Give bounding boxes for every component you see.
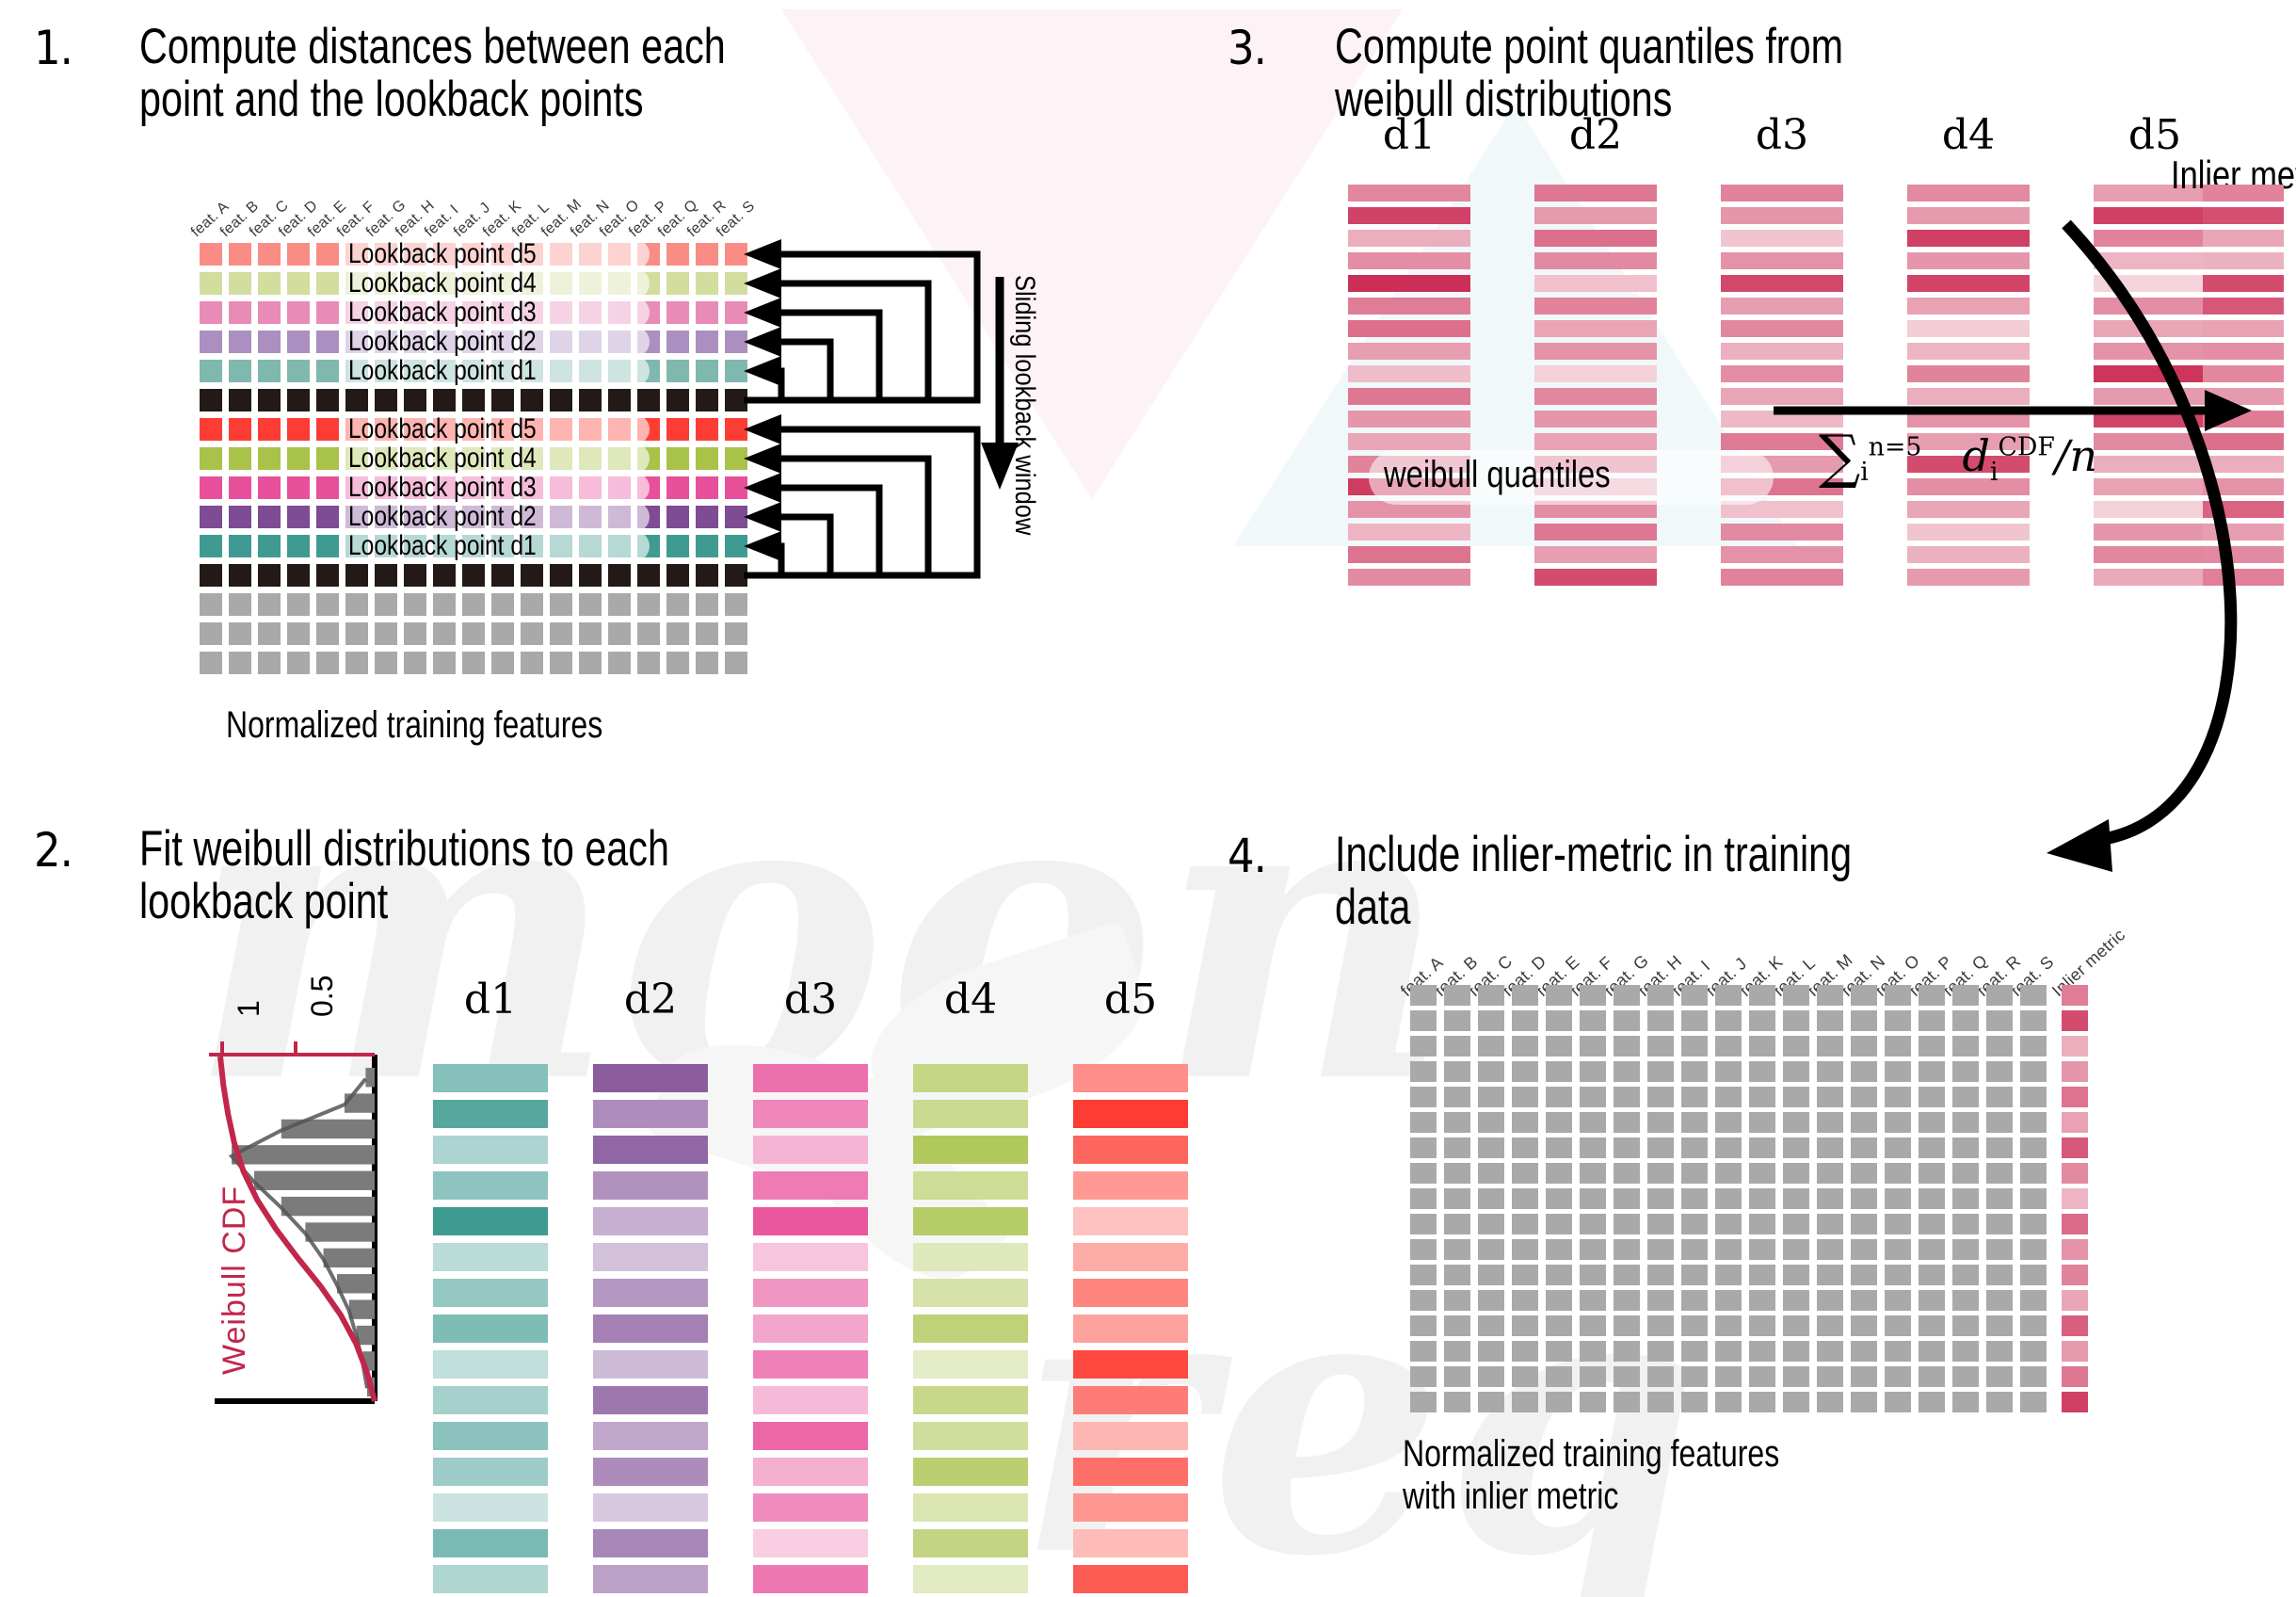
grid-cell (2020, 1163, 2047, 1184)
grid-cell (1817, 1392, 1843, 1412)
grid-cell (666, 360, 689, 382)
grid-cell (608, 593, 631, 616)
distance-bar (433, 1279, 548, 1307)
grid-cell (1885, 1036, 1911, 1057)
grid-cell (1410, 1392, 1437, 1412)
grid-cell (1783, 1112, 1809, 1133)
grid-cell (1952, 985, 1979, 1006)
grid-cell (1885, 1392, 1911, 1412)
grid-cell (1986, 1239, 2013, 1260)
inlier-metric-cell (2062, 1366, 2088, 1387)
grid-cell (1444, 1315, 1470, 1336)
distance-bar (1073, 1064, 1188, 1092)
grid-cell (345, 652, 368, 674)
grid-cell (521, 622, 543, 645)
grid-cell (1546, 1341, 1572, 1362)
grid-cell (1919, 1188, 1945, 1209)
grid-cell (1647, 1163, 1674, 1184)
grid-cell (579, 652, 602, 674)
lookback-row-label: Lookback point d4 (348, 444, 537, 474)
grid-cell (1512, 1366, 1538, 1387)
grid-cell (1512, 1392, 1538, 1412)
distance-bar (433, 1458, 548, 1486)
grid-cell (1512, 1137, 1538, 1158)
grid-cell (637, 652, 660, 674)
distance-bar (753, 1171, 868, 1200)
quantile-bar (1534, 230, 1657, 247)
quantile-bar (1534, 365, 1657, 382)
grid-cell (1546, 1214, 1572, 1234)
grid-cell (696, 272, 718, 295)
distance-bar (433, 1350, 548, 1379)
grid-cell (696, 447, 718, 470)
grid-cell (345, 593, 368, 616)
panel-2: 2. Fit weibull distributions to each loo… (0, 800, 1148, 1597)
grid-cell (200, 418, 222, 441)
grid-cell (1783, 1061, 1809, 1082)
panel-2-column-label: d4 (913, 976, 1028, 1024)
grid-cell (229, 301, 251, 324)
grid-cell (1986, 1315, 2013, 1336)
grid-cell (1952, 1087, 1979, 1107)
grid-cell (1614, 1188, 1640, 1209)
grid-cell (1546, 1315, 1572, 1336)
grid-cell (666, 331, 689, 353)
grid-cell (287, 272, 310, 295)
grid-row (200, 593, 754, 616)
grid-cell (1681, 1036, 1708, 1057)
grid-cell (258, 418, 281, 441)
grid-cell (521, 593, 543, 616)
inlier-metric-cell (2062, 1392, 2088, 1412)
lookback-bracket-arrow (744, 327, 830, 400)
grid-row (1410, 1061, 2088, 1082)
distance-bar (433, 1243, 548, 1271)
grid-cell (258, 564, 281, 587)
grid-row (1410, 1112, 2088, 1133)
grid-cell (1885, 1366, 1911, 1387)
grid-cell (1614, 1061, 1640, 1082)
grid-cell (1512, 1214, 1538, 1234)
inlier-metric-cell (2062, 1290, 2088, 1311)
quantile-bar (1348, 411, 1470, 427)
grid-cell (229, 360, 251, 382)
grid-cell (316, 564, 339, 587)
grid-cell (1851, 1036, 1877, 1057)
grid-cell (696, 331, 718, 353)
grid-cell (1580, 1112, 1606, 1133)
cdf-histogram-bar (281, 1197, 375, 1216)
grid-cell (1444, 1112, 1470, 1133)
distance-bar (913, 1315, 1028, 1343)
grid-cell (550, 622, 572, 645)
grid-cell (2020, 985, 2047, 1006)
grid-cell (1851, 1137, 1877, 1158)
grid-cell (1681, 1290, 1708, 1311)
quantile-bar (1534, 207, 1657, 224)
grid-cell (1986, 1061, 2013, 1082)
grid-cell (637, 389, 660, 411)
grid-cell (1783, 1315, 1809, 1336)
grid-cell (1885, 1239, 1911, 1260)
grid-cell (1512, 1188, 1538, 1209)
grid-cell (258, 622, 281, 645)
grid-cell (375, 389, 397, 411)
cdf-histogram-bar (254, 1171, 375, 1190)
grid-cell (1749, 1137, 1775, 1158)
grid-cell (1851, 1112, 1877, 1133)
panel-3-column-label: d1 (1348, 111, 1470, 159)
grid-cell (287, 593, 310, 616)
grid-cell (258, 360, 281, 382)
grid-cell (462, 652, 485, 674)
inlier-metric-cell (2062, 1341, 2088, 1362)
grid-cell (1885, 1137, 1911, 1158)
grid-cell (696, 652, 718, 674)
grid-cell (316, 331, 339, 353)
grid-cell (1952, 1341, 1979, 1362)
distance-bar (753, 1315, 868, 1343)
panel-2-column-label: d1 (433, 976, 548, 1024)
grid-cell (1986, 1366, 2013, 1387)
grid-cell (1580, 1087, 1606, 1107)
grid-cell (1478, 1036, 1504, 1057)
grid-cell (316, 389, 339, 411)
grid-cell (404, 593, 426, 616)
grid-cell (1580, 1188, 1606, 1209)
grid-cell (1715, 1112, 1742, 1133)
panel-2-column-label: d2 (593, 976, 708, 1024)
grid-cell (1681, 1087, 1708, 1107)
panel-3-quantile-column (1534, 185, 1657, 591)
panel-3-column-label: d3 (1721, 111, 1843, 159)
grid-cell (1546, 1036, 1572, 1057)
grid-cell (1817, 1214, 1843, 1234)
grid-cell (1681, 1239, 1708, 1260)
grid-cell (1580, 1341, 1606, 1362)
cdf-histogram-bar (365, 1068, 375, 1087)
grid-cell (2020, 1061, 2047, 1082)
grid-cell (1749, 1366, 1775, 1387)
grid-cell (1952, 1315, 1979, 1336)
grid-cell (1647, 1036, 1674, 1057)
grid-cell (1885, 1010, 1911, 1031)
grid-cell (1614, 1265, 1640, 1285)
distance-bar (433, 1064, 548, 1092)
quantile-bar (1348, 343, 1470, 360)
grid-row (1410, 1188, 2088, 1209)
distance-bar (1073, 1458, 1188, 1486)
cdf-histogram-bar (337, 1274, 375, 1293)
grid-cell (462, 622, 485, 645)
grid-cell (200, 389, 222, 411)
grid-cell (2020, 1290, 2047, 1311)
grid-row (1410, 1392, 2088, 1412)
grid-cell (1986, 1341, 2013, 1362)
grid-cell (608, 652, 631, 674)
quantile-bar (1721, 185, 1843, 202)
grid-cell (1681, 1265, 1708, 1285)
distance-bar (1073, 1171, 1188, 1200)
grid-cell (316, 272, 339, 295)
grid-cell (316, 447, 339, 470)
grid-cell (258, 652, 281, 674)
cdf-histogram-bar (305, 1222, 375, 1241)
grid-cell (1783, 1188, 1809, 1209)
grid-cell (1952, 1112, 1979, 1133)
quantile-bar (1721, 546, 1843, 563)
grid-cell (1580, 1137, 1606, 1158)
grid-cell (2020, 1392, 2047, 1412)
lookback-bracket-arrow (744, 502, 830, 575)
quantile-bar (1534, 275, 1657, 292)
grid-cell (1919, 1112, 1945, 1133)
quantile-bar (1348, 569, 1470, 586)
distance-bar (1073, 1100, 1188, 1128)
distance-bar (593, 1565, 708, 1593)
grid-cell (1478, 1366, 1504, 1387)
grid-cell (200, 622, 222, 645)
grid-cell (1410, 1239, 1437, 1260)
grid-cell (258, 506, 281, 528)
grid-cell (2020, 1036, 2047, 1057)
lookback-bracket-arrow (744, 531, 781, 575)
grid-cell (1986, 1265, 2013, 1285)
grid-cell (1919, 1392, 1945, 1412)
grid-cell (666, 389, 689, 411)
grid-cell (1885, 1061, 1911, 1082)
quantile-bar (1348, 365, 1470, 382)
distance-bar (593, 1350, 708, 1379)
grid-cell (1986, 1087, 2013, 1107)
distance-bar (753, 1350, 868, 1379)
grid-cell (1783, 1087, 1809, 1107)
grid-cell (1647, 1265, 1674, 1285)
grid-cell (316, 418, 339, 441)
grid-cell (345, 622, 368, 645)
grid-cell (200, 272, 222, 295)
distance-bar (433, 1386, 548, 1414)
grid-cell (1410, 1341, 1437, 1362)
grid-cell (404, 622, 426, 645)
formula-sum-sub: i (1860, 458, 1869, 487)
grid-cell (1512, 1010, 1538, 1031)
distance-bar (593, 1243, 708, 1271)
grid-cell (1478, 1010, 1504, 1031)
grid-cell (1715, 1163, 1742, 1184)
grid-cell (1817, 1061, 1843, 1082)
grid-cell (200, 243, 222, 266)
cdf-histogram-bar (349, 1299, 375, 1318)
grid-cell (1614, 985, 1640, 1006)
grid-cell (1614, 1010, 1640, 1031)
grid-cell (316, 360, 339, 382)
grid-cell (229, 272, 251, 295)
distance-bar (593, 1136, 708, 1164)
grid-cell (1749, 1061, 1775, 1082)
inlier-metric-cell (2062, 1036, 2088, 1057)
quantile-bar (1534, 298, 1657, 315)
grid-cell (1715, 1061, 1742, 1082)
inlier-metric-cell (2062, 1137, 2088, 1158)
distance-bar (753, 1243, 868, 1271)
grid-cell (1919, 1265, 1945, 1285)
grid-cell (1749, 1392, 1775, 1412)
distance-bar (433, 1136, 548, 1164)
grid-cell (666, 652, 689, 674)
grid-cell (666, 272, 689, 295)
grid-cell (2020, 1341, 2047, 1362)
grid-cell (1749, 1112, 1775, 1133)
quantile-bar (1721, 207, 1843, 224)
grid-cell (1817, 1366, 1843, 1387)
grid-cell (200, 360, 222, 382)
grid-cell (375, 622, 397, 645)
distance-bar (1073, 1493, 1188, 1522)
distance-bar (433, 1565, 548, 1593)
grid-cell (1647, 1010, 1674, 1031)
distance-bar (913, 1529, 1028, 1557)
grid-cell (1478, 1061, 1504, 1082)
grid-cell (1851, 1010, 1877, 1031)
grid-cell (1817, 1087, 1843, 1107)
grid-cell (1817, 1265, 1843, 1285)
grid-cell (666, 564, 689, 587)
distance-bar (913, 1064, 1028, 1092)
grid-row (1410, 1137, 2088, 1158)
grid-cell (1783, 1366, 1809, 1387)
distance-bar (753, 1386, 868, 1414)
grid-cell (1444, 985, 1470, 1006)
panel-3-column-label: d2 (1534, 111, 1657, 159)
panel-2-distance-column (753, 1064, 868, 1597)
distance-bar (913, 1100, 1028, 1128)
grid-cell (1817, 1341, 1843, 1362)
quantile-bar (1348, 546, 1470, 563)
grid-cell (1512, 1163, 1538, 1184)
grid-cell (1444, 1214, 1470, 1234)
grid-cell (1410, 1061, 1437, 1082)
panel-2-step-number: 2. (34, 823, 72, 878)
grid-cell (1715, 985, 1742, 1006)
grid-cell (491, 389, 514, 411)
grid-cell (1715, 1010, 1742, 1031)
quantile-bar (1348, 388, 1470, 405)
grid-cell (1478, 1087, 1504, 1107)
grid-cell (1478, 1112, 1504, 1133)
distance-bar (913, 1279, 1028, 1307)
grid-cell (287, 535, 310, 557)
distance-bar (753, 1529, 868, 1557)
quantile-bar (1534, 433, 1657, 450)
grid-cell (229, 389, 251, 411)
inlier-metric-cell (2062, 1239, 2088, 1260)
lookback-bracket-arrow (744, 356, 781, 400)
panel-2-column-label: d3 (753, 976, 868, 1024)
inlier-metric-cell (2062, 1087, 2088, 1107)
grid-cell (1546, 1265, 1572, 1285)
grid-cell (433, 564, 456, 587)
distance-bar (913, 1171, 1028, 1200)
grid-cell (637, 593, 660, 616)
panel-4-caption: Normalized training features with inlier… (1403, 1433, 1975, 1518)
grid-cell (1817, 1290, 1843, 1311)
grid-cell (287, 622, 310, 645)
grid-cell (1919, 1087, 1945, 1107)
grid-cell (1478, 1315, 1504, 1336)
grid-cell (1817, 1315, 1843, 1336)
grid-cell (1614, 1036, 1640, 1057)
panel-4-feature-labels: feat. A feat. B feat. C feat. D feat. E … (1410, 921, 2126, 987)
grid-cell (1919, 1163, 1945, 1184)
distance-bar (593, 1493, 708, 1522)
quantile-bar (1721, 275, 1843, 292)
grid-cell (1681, 1214, 1708, 1234)
quantile-bar (1348, 252, 1470, 269)
grid-cell (287, 331, 310, 353)
grid-cell (200, 506, 222, 528)
inlier-metric-cell (2062, 1188, 2088, 1209)
grid-cell (550, 652, 572, 674)
inlier-metric-cell (2062, 1061, 2088, 1082)
grid-cell (1444, 1366, 1470, 1387)
quantile-bar (1721, 343, 1843, 360)
grid-cell (229, 447, 251, 470)
grid-cell (1546, 1239, 1572, 1260)
grid-cell (1986, 1112, 2013, 1133)
grid-cell (1952, 1036, 1979, 1057)
grid-cell (1952, 1239, 1979, 1260)
grid-cell (1851, 1188, 1877, 1209)
grid-cell (696, 301, 718, 324)
grid-cell (1749, 1010, 1775, 1031)
grid-cell (696, 622, 718, 645)
distance-bar (913, 1565, 1028, 1593)
grid-cell (1919, 1366, 1945, 1387)
grid-cell (345, 389, 368, 411)
grid-cell (1512, 1315, 1538, 1336)
distance-bar (593, 1458, 708, 1486)
grid-cell (1715, 1290, 1742, 1311)
grid-cell (1614, 1112, 1640, 1133)
grid-cell (637, 622, 660, 645)
grid-cell (666, 418, 689, 441)
grid-cell (1885, 1112, 1911, 1133)
grid-cell (316, 535, 339, 557)
grid-cell (696, 593, 718, 616)
grid-cell (1952, 1392, 1979, 1412)
grid-cell (1851, 1061, 1877, 1082)
grid-cell (1580, 985, 1606, 1006)
grid-cell (696, 389, 718, 411)
grid-cell (1444, 1137, 1470, 1158)
distance-bar (913, 1350, 1028, 1379)
grid-cell (1410, 1137, 1437, 1158)
grid-cell (258, 331, 281, 353)
grid-cell (1715, 1392, 1742, 1412)
grid-cell (1444, 1163, 1470, 1184)
grid-cell (1851, 1087, 1877, 1107)
grid-cell (1749, 1265, 1775, 1285)
grid-cell (1580, 1392, 1606, 1412)
grid-cell (1986, 1010, 2013, 1031)
grid-cell (258, 301, 281, 324)
grid-cell (1749, 1315, 1775, 1336)
grid-cell (1885, 1087, 1911, 1107)
grid-cell (1580, 1265, 1606, 1285)
panel-1-title: Compute distances between each point and… (139, 21, 889, 126)
grid-cell (287, 506, 310, 528)
